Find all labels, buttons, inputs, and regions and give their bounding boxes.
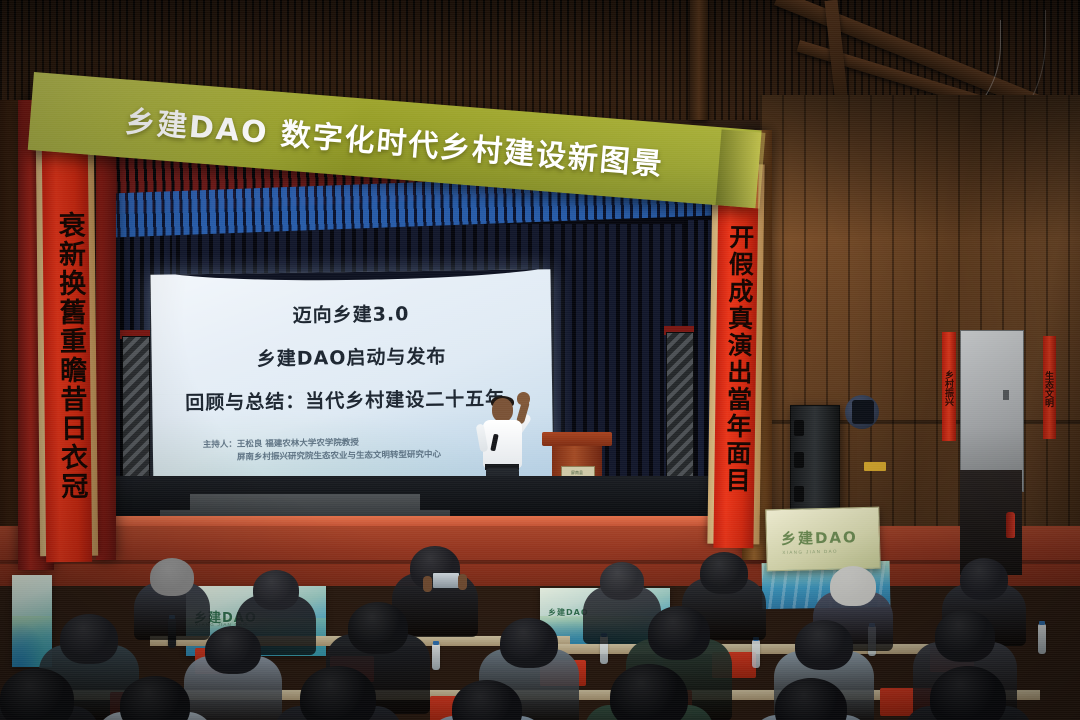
audience-member-head: [648, 606, 710, 660]
door-handle[interactable]: [1003, 390, 1009, 400]
pa-speaker-grill-1: [794, 420, 804, 436]
photographer-hand: [458, 574, 467, 590]
audience-member-head: [205, 626, 261, 674]
speaker-tower-right: [666, 332, 694, 496]
audience-member-head: [120, 676, 190, 720]
presenter-head: [492, 398, 513, 422]
audience-member-head: [600, 562, 644, 600]
audience-member-head: [830, 566, 876, 606]
water-bottle: [432, 644, 440, 670]
water-bottle: [752, 640, 760, 668]
couplet-right: 开假成真演出當年面目: [713, 170, 758, 549]
slide-host-line: 主持人：王松良 福建农林大学农学院教授: [203, 438, 359, 450]
conference-photo-scene: 迈向乡建3.0 乡建DAO启动与发布 回顾与总结：当代乡村建设二十五年 主持人：…: [0, 0, 1080, 720]
wall-red-strip-left: 乡村振兴: [942, 332, 956, 441]
presenter-hand: [517, 392, 530, 405]
slide-line-2: 乡建DAO启动与发布: [257, 342, 447, 372]
speaker-tower-left: [122, 336, 150, 498]
water-bottle: [1038, 624, 1046, 654]
audience-member-head: [253, 570, 299, 610]
audience-member-head: [795, 620, 853, 670]
audience-member-head: [935, 610, 995, 662]
pa-speaker-grill-3: [794, 486, 804, 502]
slide-line-1: 迈向乡建3.0: [293, 299, 410, 328]
slide-host-block: 主持人：王松良 福建农林大学农学院教授 屏南乡村振兴研究院生态农业与生态文明转型…: [203, 435, 503, 466]
smartphone-icon: [432, 572, 460, 589]
proscenium-pillar-left-inner: [96, 140, 116, 560]
audience-member-head: [500, 618, 558, 668]
couplet-left: 衰新换舊重瞻昔日衣冠: [42, 150, 92, 562]
wall-sign-plate: [864, 462, 886, 471]
audience-member-head: [348, 602, 408, 654]
presenter-shirt: [483, 420, 522, 468]
lectern-top: [542, 432, 612, 446]
banner-fold-highlight: [716, 129, 766, 208]
wall-red-strip-right: 生态文明: [1043, 336, 1056, 439]
audience-member-head: [60, 614, 118, 664]
slide-affiliation-line: 屏南乡村振兴研究院生态农业与生态文明转型研究中心: [203, 448, 503, 465]
side-door[interactable]: [960, 330, 1024, 492]
bottle-cap: [433, 641, 439, 645]
bottle-cap: [1039, 621, 1045, 625]
slide-line-3: 回顾与总结：当代乡村建设二十五年: [185, 384, 505, 415]
audience-member-head: [700, 552, 748, 594]
audience-member-head: [960, 558, 1008, 600]
fire-extinguisher-icon: [1006, 512, 1015, 538]
audience-member-head: [150, 558, 194, 596]
pa-speaker-grill-2: [794, 452, 804, 468]
wall-fan-housing: [852, 400, 874, 424]
ceiling-beam-vertical: [690, 0, 708, 120]
photographer-hand: [423, 576, 432, 592]
audience-area: [0, 540, 1080, 720]
